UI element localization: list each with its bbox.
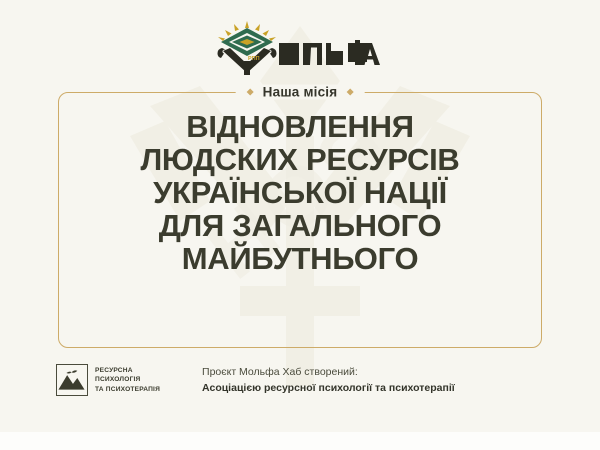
mission-poster: НОЯ (0, 0, 600, 450)
diamond-marker-left-icon (247, 88, 254, 95)
partner-line-3: ТА ПСИХОТЕРАПІЯ (95, 385, 160, 394)
headline-line-5: МАЙБУТНЬОГО (58, 242, 542, 275)
brand-logo: РПП (0, 20, 600, 74)
partner-words: РЕСУРСНА ПСИХОЛОГІЯ ТА ПСИХОТЕРАПІЯ (95, 366, 160, 394)
footer: РЕСУРСНА ПСИХОЛОГІЯ ТА ПСИХОТЕРАПІЯ Проє… (56, 364, 560, 396)
headline-line-2: ЛЮДСКИХ РЕСУРСІВ (58, 143, 542, 176)
mission-tag: Наша місія (236, 85, 365, 100)
partner-line-2: ПСИХОЛОГІЯ (95, 375, 160, 384)
credit-block: Проєкт Мольфа Хаб створений: Асоціацією … (202, 366, 455, 395)
logo-inner-mark: РПП (248, 56, 260, 62)
mountain-bird-icon (57, 365, 86, 394)
molfa-logo-icon: РПП (215, 19, 385, 75)
headline-line-4: ДЛЯ ЗАГАЛЬНОГО (58, 209, 542, 242)
diamond-marker-right-icon (346, 88, 353, 95)
bottom-strip (0, 432, 600, 450)
mission-label: Наша місія (263, 85, 338, 100)
credit-organization: Асоціацією ресурсної психології та психо… (202, 382, 455, 395)
credit-intro: Проєкт Мольфа Хаб створений: (202, 366, 455, 379)
partner-line-1: РЕСУРСНА (95, 366, 160, 375)
headline-line-3: УКРАЇНСЬКОЇ НАЦІЇ (58, 176, 542, 209)
headline-line-1: ВІДНОВЛЕННЯ (58, 110, 542, 143)
partner-mark (56, 364, 88, 396)
headline: ВІДНОВЛЕННЯ ЛЮДСКИХ РЕСУРСІВ УКРАЇНСЬКОЇ… (58, 110, 542, 275)
partner-logo: РЕСУРСНА ПСИХОЛОГІЯ ТА ПСИХОТЕРАПІЯ (56, 364, 160, 396)
